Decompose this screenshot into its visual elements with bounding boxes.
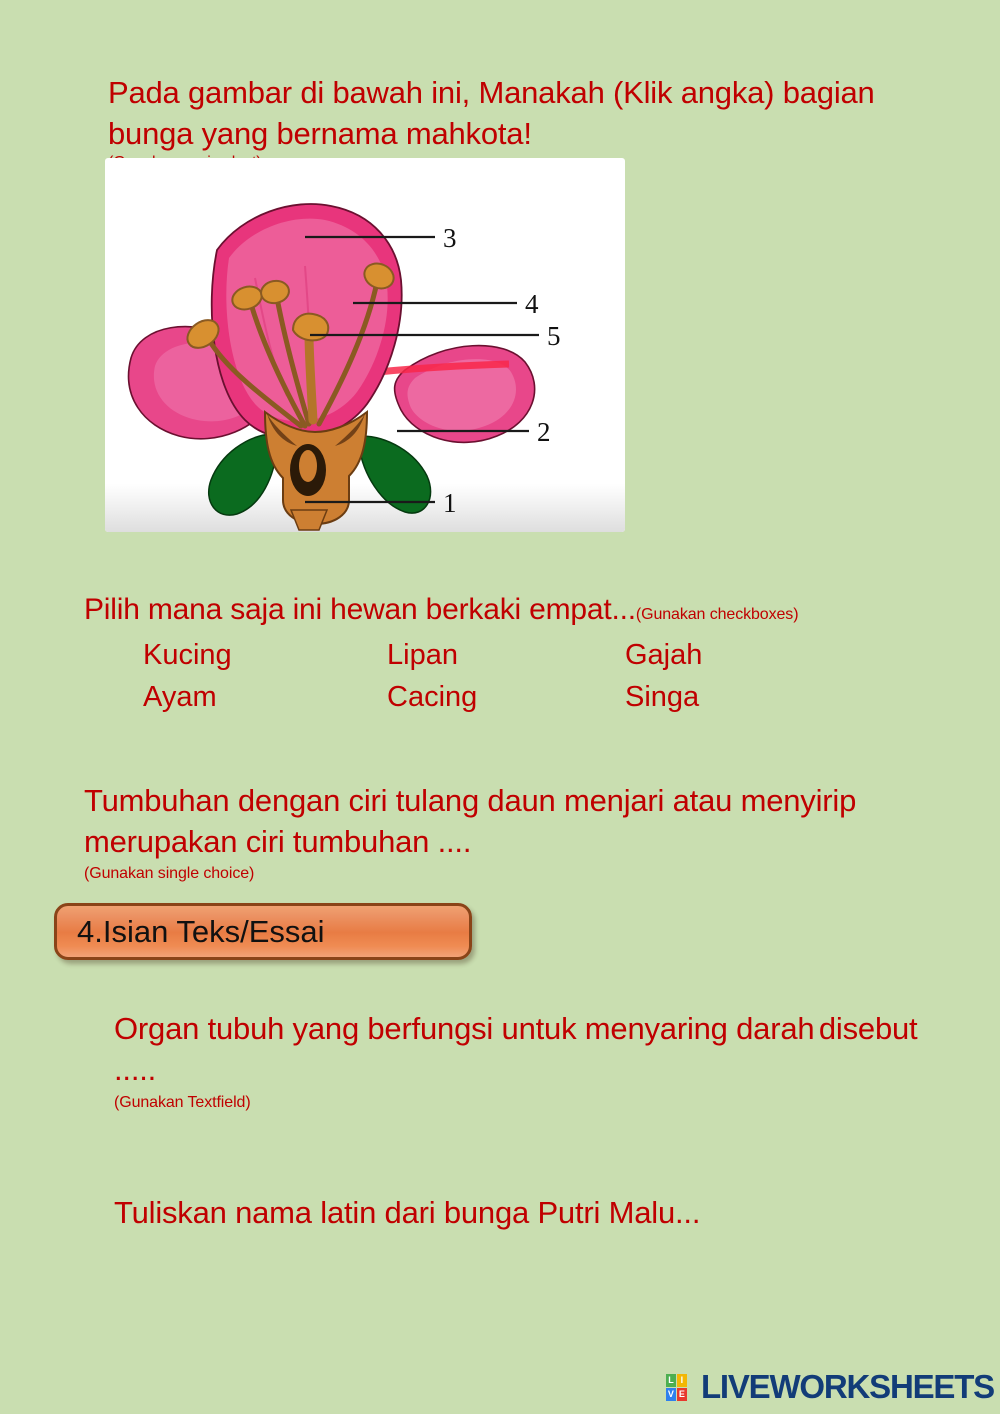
logo-tile-e: E	[677, 1388, 687, 1401]
question-4-textfield: Organ tubuh yang berfungsi untuk menyari…	[114, 1008, 954, 1112]
checkbox-option-cacing[interactable]: Cacing	[387, 682, 625, 714]
leader-label-5: 5	[547, 321, 561, 351]
checkbox-option-singa[interactable]: Singa	[625, 682, 825, 714]
question-3-line-2: merupakan ciri tumbuhan ....	[84, 824, 471, 859]
leader-label-4: 4	[525, 289, 539, 319]
checkbox-option-kucing[interactable]: Kucing	[143, 640, 387, 672]
logo-tile-grid: L I V E	[666, 1374, 698, 1401]
question-1-line-1: Pada gambar di bawah ini, Manakah (Klik …	[108, 72, 938, 113]
section-header-button-isian-teks-essai[interactable]: 4.Isian Teks/Essai	[54, 903, 472, 960]
question-5-prompt: Tuliskan nama latin dari bunga Putri Mal…	[114, 1195, 700, 1230]
leader-label-1: 1	[443, 488, 457, 518]
flower-cross-section-image[interactable]: 3 4 5 2 1	[105, 158, 625, 532]
question-3-line-1: Tumbuhan dengan ciri tulang daun menjari…	[84, 783, 856, 818]
question-2-prompt: Pilih mana saja ini hewan berkaki empat.…	[84, 593, 636, 626]
leader-label-3: 3	[443, 223, 457, 253]
checkbox-option-ayam[interactable]: Ayam	[143, 682, 387, 714]
question-2-checkboxes: Pilih mana saja ini hewan berkaki empat.…	[84, 590, 944, 630]
logo-tile-spacer-bottom	[688, 1388, 698, 1401]
logo-tile-spacer-top	[688, 1374, 698, 1387]
leader-label-2: 2	[537, 417, 551, 447]
question-3-single-choice: Tumbuhan dengan ciri tulang daun menjari…	[84, 780, 954, 883]
flower-diagram-svg: 3 4 5 2 1	[105, 158, 625, 532]
worksheet-page: Pada gambar di bawah ini, Manakah (Klik …	[0, 0, 1000, 1414]
logo-tile-v: V	[666, 1388, 676, 1401]
question-4-line-1: Organ tubuh yang berfungsi untuk menyari…	[114, 1011, 814, 1046]
question-2-hint: (Gunakan checkboxes)	[636, 606, 799, 623]
option-row-1: Kucing Lipan Gajah	[143, 640, 843, 682]
logo-tile-l: L	[666, 1374, 676, 1387]
logo-tile-i: I	[677, 1374, 687, 1387]
logo-wordmark-text: LIVEWORKSHEETS	[701, 1368, 994, 1406]
liveworksheets-logo: L I V E LIVEWORKSHEETS	[666, 1368, 994, 1406]
question-3-hint: (Gunakan single choice)	[84, 865, 954, 883]
question-5-latin-name: Tuliskan nama latin dari bunga Putri Mal…	[114, 1192, 954, 1233]
option-row-2: Ayam Cacing Singa	[143, 682, 843, 724]
question-2-option-grid: Kucing Lipan Gajah Ayam Cacing Singa	[143, 640, 843, 724]
question-4-hint: (Gunakan Textfield)	[114, 1094, 954, 1112]
checkbox-option-gajah[interactable]: Gajah	[625, 640, 825, 672]
question-1-line-2: bunga yang bernama mahkota!	[108, 113, 938, 154]
checkbox-option-lipan[interactable]: Lipan	[387, 640, 625, 672]
